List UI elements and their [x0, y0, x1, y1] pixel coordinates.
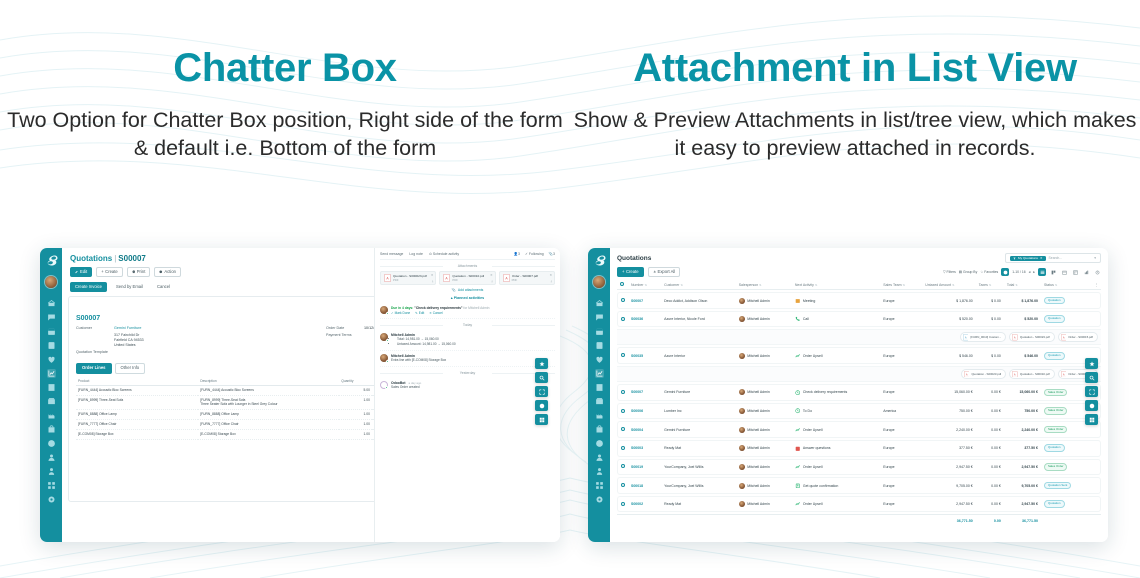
- attachment-chip-list: AQuotation - S00023.pdfAQuotation - S000…: [620, 369, 1098, 379]
- sidebar-icon-calendar[interactable]: [595, 327, 604, 336]
- cell-customer: Ready Mat: [661, 496, 736, 513]
- cell-status: Quotation Sent: [1041, 477, 1092, 494]
- cell-next-activity: To Do: [792, 403, 880, 420]
- cancel-activity-button[interactable]: ✕ Cancel: [429, 311, 443, 315]
- pager: 1-10 / 16: [1012, 270, 1025, 274]
- avatar: [380, 333, 388, 341]
- edit-activity-button[interactable]: ✎ Edit: [415, 311, 424, 315]
- cell-total: 2,947.50 €: [1004, 459, 1041, 476]
- row-checkbox[interactable]: [617, 496, 628, 513]
- close-icon[interactable]: ✕: [490, 273, 493, 277]
- cell-salesperson: Mitchell Admin: [736, 477, 792, 494]
- status-badge: Quotation: [1044, 500, 1065, 508]
- fab-star[interactable]: [535, 358, 548, 369]
- cell-spacer: [1092, 459, 1102, 476]
- cell-customer: YourCompany, Joel Willis: [661, 459, 736, 476]
- attachment-row: AQuotation - S00023.pdfAQuotation - S000…: [617, 366, 1101, 382]
- pdf-icon: A: [1012, 334, 1018, 340]
- cell-number: S00003: [628, 440, 661, 457]
- avatar: [739, 408, 745, 414]
- attachment-chip-name: Quotation - S00010.pdf: [1020, 372, 1050, 376]
- table-row[interactable]: S00007Deco Addict, Addison OlsonMitchell…: [617, 292, 1101, 309]
- cell-status: Sales Order: [1041, 459, 1092, 476]
- status-badge: Quotation: [1044, 315, 1065, 323]
- download-icon[interactable]: ⤓: [491, 279, 492, 283]
- cell-total: 15,060.00 €: [1004, 384, 1041, 401]
- chart-icon: [795, 353, 801, 359]
- sidebar-icon-discuss[interactable]: [47, 313, 56, 322]
- row-checkbox[interactable]: [617, 477, 628, 494]
- send-message-button[interactable]: Send message: [380, 252, 403, 256]
- status-badge: Quotation: [1044, 444, 1065, 452]
- cell-next-activity: Check delivery requirements: [792, 384, 880, 401]
- print-button-label: Print: [137, 270, 146, 274]
- attachment-chip[interactable]: A Quotation - S000023.pdf PDF ✕ ⤓: [380, 271, 436, 285]
- row-checkbox[interactable]: [617, 292, 628, 309]
- cell-salesperson: Mitchell Admin: [736, 403, 792, 420]
- list-view-controls: + Create Export All ▽ Filters ▤ Group By…: [610, 263, 1108, 277]
- cell-total: 9,705.00 €: [1004, 477, 1041, 494]
- cell-salesperson: Mitchell Admin: [736, 440, 792, 457]
- status-badge: Sales Order: [1044, 463, 1067, 471]
- field-customer-label: Customer: [76, 326, 114, 332]
- pdf-icon: A: [384, 274, 391, 282]
- following-button[interactable]: ✓ Following: [525, 252, 544, 256]
- favorites-button[interactable]: ☆ Favorites: [980, 270, 998, 274]
- view-switcher-pivot[interactable]: [1071, 268, 1079, 276]
- avatar: [380, 306, 388, 314]
- cell-taxes: $ 0.00: [976, 347, 1004, 364]
- summary-row: 36,771.500.0036,771.50: [617, 514, 1101, 525]
- print-button[interactable]: Print: [127, 267, 151, 277]
- create-button[interactable]: + Create: [617, 267, 644, 277]
- sidebar-icon-home[interactable]: [47, 299, 56, 308]
- action-button[interactable]: Action: [154, 267, 181, 277]
- avatar: [739, 483, 745, 489]
- sidebar-icon-apps[interactable]: [595, 481, 604, 490]
- row-checkbox[interactable]: [617, 384, 628, 401]
- fab-theme[interactable]: [1085, 400, 1098, 411]
- cell-product: [E-COM08] Storage Box: [76, 429, 198, 439]
- page-title-chatter-box: Chatter Box: [173, 46, 396, 90]
- col-salesperson[interactable]: Salesperson⇅: [736, 282, 792, 290]
- sidebar-icon-inventory[interactable]: [595, 397, 604, 406]
- sidebar-icon-employees[interactable]: [595, 453, 604, 462]
- attachment-row: A[FURN_0010] Custom...AQuotation - S0002…: [617, 329, 1101, 345]
- sidebar-icon-discuss[interactable]: [595, 313, 604, 322]
- table-row[interactable]: S00003Ready MatMitchell AdminAnswer ques…: [617, 440, 1101, 457]
- edit-button[interactable]: Edit: [70, 267, 92, 277]
- field-quotation-template-label: Quotation Template: [76, 350, 128, 356]
- row-checkbox[interactable]: [617, 440, 628, 457]
- col-optional-toggle[interactable]: ⋮: [1092, 282, 1102, 290]
- avatar: [739, 316, 745, 322]
- fab-grid[interactable]: [1085, 414, 1098, 425]
- sidebar-icon-inventory[interactable]: [47, 397, 56, 406]
- table-row[interactable]: S00018YourCompany, Joel WillisMitchell A…: [617, 477, 1101, 494]
- field-customer: Customer Gemini Furniture: [76, 326, 296, 332]
- app-sidebar-left[interactable]: [40, 248, 62, 542]
- cell-sales-team: Europe: [880, 311, 922, 328]
- cell-sales-team: Europe: [880, 292, 922, 309]
- sidebar-icon-invoicing[interactable]: [595, 383, 604, 392]
- field-customer-address: 317 Fairchild Dr Fairfield CA 94533 Unit…: [76, 333, 296, 349]
- cell-total: $ 520.00: [1004, 311, 1041, 328]
- mark-done-button[interactable]: ✓ Mark Done: [391, 311, 410, 315]
- settings-icon[interactable]: [1001, 268, 1009, 276]
- sidebar-icon-website[interactable]: [595, 439, 604, 448]
- view-switcher-graph[interactable]: [1082, 268, 1090, 276]
- sidebar-icon-contacts[interactable]: [47, 341, 56, 350]
- cell-total: 377.50 €: [1004, 440, 1041, 457]
- app-sidebar-right[interactable]: [588, 248, 610, 542]
- cell-salesperson: Mitchell Admin: [736, 292, 792, 309]
- sidebar-icon-crm[interactable]: [595, 355, 604, 364]
- cell-untaxed-amount: 2,947.50 €: [922, 496, 976, 513]
- avatar: [739, 464, 745, 470]
- fab-search[interactable]: [1085, 372, 1098, 383]
- star-icon: [1089, 361, 1095, 367]
- tab-order-lines[interactable]: Order Lines: [76, 363, 112, 374]
- pager-next-button[interactable]: ▸: [1033, 270, 1035, 274]
- breadcrumb-separator: |: [114, 254, 116, 263]
- col-quantity[interactable]: Quantity: [339, 377, 372, 386]
- avatar: [739, 501, 745, 507]
- chatter-message: Mitchell Admin Extra line with [E-COM08]…: [380, 351, 555, 367]
- summary-taxes: 0.00: [976, 514, 1004, 525]
- cell-customer: Deco Addict, Addison Olson: [661, 292, 736, 309]
- user-avatar[interactable]: [593, 276, 605, 288]
- table-row[interactable]: S00006Lumber IncMitchell AdminTo DoAmeri…: [617, 403, 1101, 420]
- cell-salesperson: Mitchell Admin: [736, 459, 792, 476]
- star-icon: [539, 361, 545, 367]
- cell-spacer: [1092, 496, 1102, 513]
- attachment-row-cell: AQuotation - S00023.pdfAQuotation - S000…: [617, 366, 1101, 382]
- cell-taxes: 0.00 €: [976, 403, 1004, 420]
- cell-quantity: 1.00: [339, 395, 372, 409]
- cell-sales-team: Europe: [880, 384, 922, 401]
- cell-next-activity: Meeting: [792, 292, 880, 309]
- sidebar-icon-contacts[interactable]: [595, 341, 604, 350]
- cell-total: 750.00 €: [1004, 403, 1041, 420]
- chatter-toolbar: Send message Log note ⊙ Schedule activit…: [380, 252, 555, 260]
- sidebar-icon-settings[interactable]: [595, 495, 604, 504]
- fab-fullscreen[interactable]: [1085, 386, 1098, 397]
- filters-button[interactable]: ▽ Filters: [943, 270, 956, 274]
- cell-number: S00006: [628, 403, 661, 420]
- attachment-chip-name: Quotation - S00023.pdf: [971, 372, 1001, 376]
- pdf-icon: A: [1012, 371, 1018, 377]
- grid-icon: [1089, 417, 1095, 423]
- col-untaxed-amount[interactable]: Untaxed Amount⇅: [922, 282, 976, 290]
- download-icon[interactable]: ⤓: [551, 279, 552, 283]
- col-taxes[interactable]: Taxes⇅: [976, 282, 1004, 290]
- plus-icon: +: [101, 270, 103, 274]
- cell-customer: Azure Interior, Nicole Ford: [661, 311, 736, 328]
- cell-status: Quotation: [1041, 496, 1092, 513]
- cell-sales-team: Europe: [880, 477, 922, 494]
- sidebar-icon-apps[interactable]: [47, 481, 56, 490]
- planned-activities-header: ▴ Planned activities: [380, 296, 555, 300]
- create-button[interactable]: + Create: [96, 267, 123, 277]
- cell-number: S00036: [628, 311, 661, 328]
- sidebar-icon-manufacturing[interactable]: [47, 411, 56, 420]
- download-icon[interactable]: ⤓: [432, 279, 433, 283]
- add-attachments-label: Add attachments: [458, 288, 483, 292]
- pdf-icon: A: [1061, 334, 1067, 340]
- sidebar-icon-recruitment[interactable]: [595, 467, 604, 476]
- attachment-count[interactable]: 📎3: [549, 252, 555, 256]
- attachment-chip[interactable]: AQuotation - S00023.pdf: [1009, 332, 1054, 342]
- view-controls: ▽ Filters ▤ Group By ☆ Favorites 1-10 / …: [943, 268, 1101, 276]
- cell-sales-team: Europe: [880, 421, 922, 438]
- pencil-icon: [75, 270, 79, 274]
- action-button-label: Action: [164, 270, 176, 274]
- view-switcher-activity[interactable]: [1093, 268, 1101, 276]
- cell-quantity: 1.00: [339, 429, 372, 439]
- sidebar-icon-sales[interactable]: [47, 369, 56, 378]
- pdf-icon: A: [1061, 371, 1067, 377]
- followers-button[interactable]: 👤3: [514, 252, 520, 256]
- chatter-message: OdooBota day ago Sales Order created: [380, 378, 555, 393]
- sidebar-icon-settings[interactable]: [47, 495, 56, 504]
- col-status[interactable]: Status⇅: [1041, 282, 1092, 290]
- pdf-icon: A: [964, 371, 970, 377]
- sidebar-icon-home[interactable]: [595, 299, 604, 308]
- create-invoice-button[interactable]: Create Invoice: [70, 282, 107, 292]
- grid-icon: [539, 417, 545, 423]
- row-checkbox[interactable]: [617, 403, 628, 420]
- app-logo-icon: [592, 253, 607, 268]
- gear-icon: [159, 270, 163, 274]
- status-badge: Quotation: [1044, 297, 1065, 305]
- fullscreen-icon: [1089, 389, 1095, 395]
- cell-number: S00002: [628, 496, 661, 513]
- user-avatar[interactable]: [45, 276, 57, 288]
- cell-untaxed-amount: 377.50 €: [922, 440, 976, 457]
- group-by-button[interactable]: ▤ Group By: [959, 270, 977, 274]
- attachment-chip-name: Order - S00015.pdf: [1068, 335, 1093, 339]
- cell-status: Quotation: [1041, 440, 1092, 457]
- attachment-chip[interactable]: A[FURN_0010] Custom...: [960, 332, 1006, 342]
- row-checkbox[interactable]: [617, 421, 628, 438]
- cell-number: S00007: [628, 292, 661, 309]
- cell-next-activity: Get quote confirmation: [792, 477, 880, 494]
- export-all-button[interactable]: Export All: [648, 267, 681, 277]
- cell-customer: YourCompany, Joel Willis: [661, 477, 736, 494]
- summary-untaxed: 36,771.50: [922, 514, 976, 525]
- activity-due: Due in 4 days: "Check delivery requireme…: [391, 306, 555, 310]
- clipboard-icon: [795, 483, 801, 489]
- cell-number: S00018: [628, 477, 661, 494]
- phone-icon: [795, 316, 801, 322]
- cell-status: Sales Order: [1041, 403, 1092, 420]
- close-icon[interactable]: ✕: [549, 273, 552, 277]
- sidebar-icon-employees[interactable]: [47, 453, 56, 462]
- filter-icon: [1013, 257, 1016, 260]
- col-description[interactable]: Description: [198, 377, 339, 386]
- cell-sales-team: Europe: [880, 440, 922, 457]
- sidebar-icon-sales[interactable]: [595, 369, 604, 378]
- cell-salesperson: Mitchell Admin: [736, 496, 792, 513]
- sidebar-icon-website[interactable]: [47, 439, 56, 448]
- view-switcher-calendar[interactable]: [1060, 268, 1068, 276]
- view-switcher-kanban[interactable]: [1049, 268, 1057, 276]
- message-body: Sales Order created: [391, 385, 555, 390]
- summary-total: 36,771.50: [1004, 514, 1041, 525]
- address-line-2: Fairfield CA 94533: [114, 338, 144, 342]
- attachment-chip[interactable]: AQuotation - S00010.pdf: [1009, 369, 1054, 379]
- cell-number: S00019: [628, 459, 661, 476]
- cell-salesperson: Mitchell Admin: [736, 311, 792, 328]
- floating-action-rail-left: [535, 358, 548, 425]
- col-next-activity[interactable]: Next Activity⇅: [792, 282, 880, 290]
- col-select-all[interactable]: [617, 282, 628, 290]
- cell-next-activity: Order Upsell: [792, 421, 880, 438]
- row-checkbox[interactable]: [617, 459, 628, 476]
- status-badge: Sales Order: [1044, 407, 1067, 415]
- cell-number: S00004: [628, 421, 661, 438]
- breadcrumb-model[interactable]: Quotations: [70, 254, 112, 263]
- close-icon[interactable]: ✕: [1040, 256, 1043, 260]
- sidebar-icon-invoicing[interactable]: [47, 383, 56, 392]
- row-checkbox[interactable]: [617, 311, 628, 328]
- attachment-chip[interactable]: A Quotation - S00010.pdf PDF ✕ ⤓: [439, 271, 495, 285]
- breadcrumb-record: S00007: [118, 254, 146, 263]
- avatar: [380, 354, 388, 362]
- cell-spacer: [1092, 292, 1102, 309]
- avatar: [739, 389, 745, 395]
- attachment-type: PDF: [512, 278, 518, 282]
- search-facet[interactable]: My Quotations ✕: [1010, 256, 1046, 261]
- cell-description: [E-COM08] Storage Box: [198, 429, 339, 439]
- message-body: Extra line with [E-COM08] Storage Box: [391, 358, 555, 363]
- cell-taxes: $ 0.00: [976, 311, 1004, 328]
- address-line-1: 317 Fairchild Dr: [114, 333, 139, 337]
- activity-item: Due in 4 days: "Check delivery requireme…: [380, 303, 555, 320]
- cell-quantity: 5.00: [339, 385, 372, 395]
- cell-untaxed-amount: $ 520.00: [922, 311, 976, 328]
- clock-icon: [795, 390, 801, 396]
- cell-taxes: $ 0.00: [976, 292, 1004, 309]
- col-customer[interactable]: Customer⇅: [661, 282, 736, 290]
- col-sales-team[interactable]: Sales Team⇅: [880, 282, 922, 290]
- row-checkbox[interactable]: [617, 347, 628, 364]
- floating-action-rail-right: [1085, 358, 1098, 425]
- clock-icon: [795, 408, 801, 414]
- question-icon: [795, 446, 801, 452]
- attachment-chip[interactable]: A Order - S00007.pdf PDF ✕ ⤓: [499, 271, 555, 285]
- log-note-button[interactable]: Log note: [409, 252, 423, 256]
- calendar-icon: [795, 298, 801, 304]
- attachment-chip[interactable]: AQuotation - S00023.pdf: [961, 369, 1006, 379]
- tab-other-info[interactable]: Other Info: [115, 363, 146, 374]
- fab-grid[interactable]: [535, 414, 548, 425]
- day-separator-today: Today: [380, 323, 555, 327]
- fab-fullscreen[interactable]: [535, 386, 548, 397]
- col-total[interactable]: Total⇅: [1004, 282, 1041, 290]
- cell-sales-team: Europe: [880, 459, 922, 476]
- table-row[interactable]: S00002Ready MatMitchell AdminOrder Upsel…: [617, 496, 1101, 513]
- pdf-icon: A: [443, 274, 450, 282]
- send-by-email-button[interactable]: Send by Email: [111, 282, 148, 292]
- page-title: Quotations: [617, 255, 651, 262]
- cell-taxes: 0.00 €: [976, 496, 1004, 513]
- cell-description: [FURN_8888] Office Lamp: [198, 409, 339, 419]
- sidebar-icon-purchase[interactable]: [595, 425, 604, 434]
- cell-quantity: 1.00: [339, 419, 372, 429]
- cell-customer: Lumber Inc: [661, 403, 736, 420]
- day-separator-yesterday: Yesterday: [380, 371, 555, 375]
- cell-untaxed-amount: $ 1,876.00: [922, 292, 976, 309]
- cell-customer: Azure Interior: [661, 347, 736, 364]
- field-payment-terms-label: Payment Terms: [326, 333, 364, 339]
- table-row[interactable]: S00019YourCompany, Joel WillisMitchell A…: [617, 459, 1101, 476]
- schedule-activity-button[interactable]: ⊙ Schedule activity: [429, 252, 459, 256]
- avatar: [739, 445, 745, 451]
- close-icon[interactable]: ✕: [431, 273, 434, 277]
- cell-customer: Ready Mat: [661, 440, 736, 457]
- fab-star[interactable]: [1085, 358, 1098, 369]
- avatar-bot: [380, 381, 388, 389]
- fullscreen-icon: [539, 389, 545, 395]
- cell-total: $ 1,876.00: [1004, 292, 1041, 309]
- form-view-screenshot: Quotations|S00007 Edit + Create Print A: [40, 248, 560, 542]
- search-placeholder: Search...: [1049, 256, 1063, 260]
- table-row[interactable]: S00035Azure InteriorMitchell AdminOrder …: [617, 347, 1101, 364]
- chevron-down-icon[interactable]: ▾: [1094, 256, 1096, 260]
- view-switcher-list[interactable]: [1038, 268, 1046, 276]
- cell-product: [FURN_8999] Three-Seat Sofa: [76, 395, 198, 409]
- add-attachments-button[interactable]: 📎 Add attachments: [380, 288, 555, 292]
- cancel-button[interactable]: Cancel: [152, 282, 175, 292]
- col-product[interactable]: Product: [76, 377, 198, 386]
- pdf-icon: A: [503, 274, 510, 282]
- cell-customer: Gemini Furniture: [661, 384, 736, 401]
- cell-salesperson: Mitchell Admin: [736, 347, 792, 364]
- cell-product: [FURN_7777] Office Chair: [76, 419, 198, 429]
- sidebar-icon-purchase[interactable]: [47, 425, 56, 434]
- table-row[interactable]: S00007Gemini FurnitureMitchell AdminChec…: [617, 384, 1101, 401]
- col-number[interactable]: Number⇅: [628, 282, 661, 290]
- cell-taxes: 0.00 €: [976, 421, 1004, 438]
- cell-number: S00007: [628, 384, 661, 401]
- cell-customer: Gemini Furniture: [661, 421, 736, 438]
- paperclip-icon: 📎: [452, 288, 456, 292]
- sidebar-icon-calendar[interactable]: [47, 327, 56, 336]
- table-row[interactable]: S00036Azure Interior, Nicole FordMitchel…: [617, 311, 1101, 328]
- headings-row: Chatter Box Two Option for Chatter Box p…: [0, 0, 1140, 215]
- chart-icon: [795, 464, 801, 470]
- field-quotation-template: Quotation Template: [76, 350, 296, 356]
- cell-salesperson: Mitchell Admin: [736, 384, 792, 401]
- fab-theme[interactable]: [535, 400, 548, 411]
- field-customer-value[interactable]: Gemini Furniture: [114, 326, 141, 332]
- table-header-row: Number⇅ Customer⇅ Salesperson⇅ Next Acti…: [617, 282, 1101, 290]
- pager-previous-button[interactable]: ◂: [1029, 270, 1031, 274]
- attachment-row-cell: A[FURN_0010] Custom...AQuotation - S0002…: [617, 329, 1101, 345]
- edit-button-label: Edit: [80, 270, 87, 274]
- attachment-chip[interactable]: AOrder - S00015.pdf: [1058, 332, 1098, 342]
- table-row[interactable]: S00004Gemini FurnitureMitchell AdminOrde…: [617, 421, 1101, 438]
- sidebar-icon-crm[interactable]: [47, 355, 56, 364]
- search-input[interactable]: My Quotations ✕ Search... ▾: [1005, 253, 1101, 263]
- sidebar-icon-recruitment[interactable]: [47, 467, 56, 476]
- fab-search[interactable]: [535, 372, 548, 383]
- field-order-date-label: Order Date: [326, 326, 364, 332]
- create-button-label: Create: [105, 270, 118, 274]
- sidebar-icon-manufacturing[interactable]: [595, 411, 604, 420]
